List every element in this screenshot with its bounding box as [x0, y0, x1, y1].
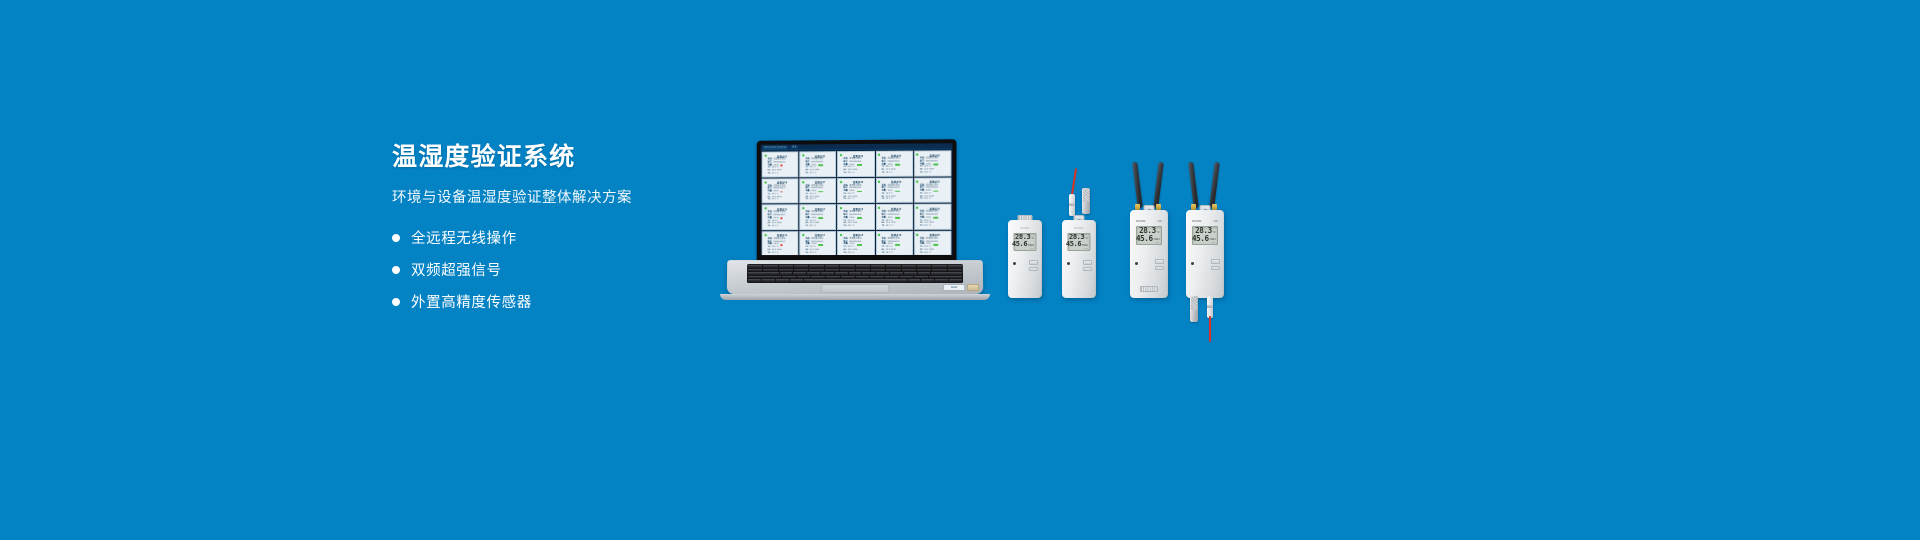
panel-row-key: T2:: [768, 225, 771, 228]
monitor-panel[interactable]: 监测点06名称:温湿度记录仪编号:SN00000001电量:100%T1:28.…: [762, 178, 799, 204]
device-key-up[interactable]: [1029, 260, 1038, 265]
probe-metal-body: [1082, 188, 1090, 214]
keyboard-key[interactable]: [904, 272, 917, 275]
probe-mesh-icon: [1083, 189, 1089, 202]
panel-data-row: T2:28.1 ℃: [882, 172, 911, 175]
device-keypad[interactable]: [1029, 260, 1038, 271]
panel-row-value: 28.1 ℃: [848, 252, 855, 255]
device-port-labels: ENON H3: [1186, 219, 1224, 223]
keyboard-key[interactable]: [932, 265, 946, 268]
panel-row-key: T2:: [882, 198, 885, 201]
panel-row-value: 28.1 ℃: [848, 225, 855, 228]
keyboard-key[interactable]: [902, 265, 916, 268]
device-body: ENON H3 28.3 ℃ 45.6 %RH ▭▭: [1186, 210, 1224, 298]
status-led-icon: [916, 234, 918, 236]
panel-row-value: 28.1 ℃: [810, 199, 817, 202]
panel-title: 监测点16: [768, 233, 797, 237]
keyboard-key[interactable]: [856, 269, 870, 272]
keyboard-key[interactable]: [917, 272, 930, 275]
panel-row-key: T2:: [882, 225, 885, 228]
panel-row-value: 28.1 ℃: [772, 172, 779, 175]
status-badge: [895, 164, 900, 166]
monitor-panel[interactable]: 监测点07名称:温湿度记录仪编号:SN00000001电量:100%T1:28.…: [799, 178, 836, 204]
keyboard-key[interactable]: [908, 279, 921, 282]
device-logger-3: ENON H3 28.3 ℃ 45.6 %RH ▭▭: [1130, 210, 1168, 298]
keyboard-key[interactable]: [948, 269, 962, 272]
device-brand-label: ENON: [1136, 219, 1145, 223]
device-key-down[interactable]: [1155, 266, 1164, 271]
device-port-labels: ENON H3: [1130, 219, 1168, 223]
device-brand-label: ENON: [1008, 227, 1042, 230]
panel-row-key: T2:: [768, 252, 771, 255]
monitor-panel[interactable]: 监测点01名称:温湿度记录仪编号:SN00000001电量:100%T1:28.…: [762, 151, 799, 177]
probe-metal-body: [1190, 296, 1198, 322]
panel-data-row: T2:28.1 ℃: [843, 225, 872, 228]
device-brand-label: ENON: [1062, 227, 1096, 230]
keyboard-key[interactable]: [794, 265, 808, 268]
keyboard-key[interactable]: [779, 265, 793, 268]
page-subtitle: 环境与设备温湿度验证整体解决方案: [392, 186, 722, 207]
keyboard-key[interactable]: [856, 265, 870, 268]
panel-data-row: T2:28.1 ℃: [920, 198, 949, 201]
monitor-panel[interactable]: 监测点17名称:温湿度记录仪编号:SN00000001电量:100%T1:28.…: [799, 231, 836, 255]
keyboard-key[interactable]: [794, 269, 808, 272]
vent-grille-icon: [1140, 286, 1158, 292]
panel-title: 监测点04: [882, 153, 911, 157]
panel-title: 监测点10: [920, 180, 949, 184]
panel-data-row: T2:28.1 ℃: [882, 252, 911, 255]
status-led-icon: [802, 234, 804, 236]
panel-data-row: T2:28.1 ℃: [805, 252, 834, 255]
list-item: 外置高精度传感器: [392, 291, 722, 312]
status-badge: [895, 244, 900, 246]
lcd-footer-icons: ▭▭: [1070, 248, 1088, 250]
monitor-panel[interactable]: 监测点03名称:温湿度记录仪编号:SN00000001电量:100%T1:28.…: [837, 151, 874, 177]
panel-title: 监测点18: [843, 233, 872, 237]
status-led-icon: [916, 180, 918, 182]
device-key-down[interactable]: [1029, 267, 1038, 272]
keyboard-key[interactable]: [762, 279, 775, 282]
monitor-panel[interactable]: 监测点14名称:温湿度记录仪编号:SN00000001电量:100%T1:28.…: [876, 204, 913, 230]
device-key-up[interactable]: [1083, 260, 1092, 265]
panel-title: 监测点17: [805, 233, 834, 237]
panel-data-row: T2:28.1 ℃: [882, 198, 911, 201]
panel-row-key: T2:: [768, 199, 771, 202]
keyboard-key[interactable]: [790, 279, 803, 282]
status-badge: [933, 217, 938, 219]
keyboard-key[interactable]: [885, 276, 899, 279]
device-logger-1: ENON 28.3 ℃ 45.6 %RH ▭▭: [1008, 220, 1042, 298]
hero-banner: 温湿度验证系统 环境与设备温湿度验证整体解决方案 全远程无线操作 双频超强信号 …: [0, 0, 1920, 540]
monitor-panel[interactable]: 监测点04名称:温湿度记录仪编号:SN00000001电量:100%T1:28.…: [876, 151, 913, 177]
keyboard-row: [748, 276, 962, 279]
monitor-panel[interactable]: 监测点20名称:温湿度记录仪编号:SN00000001电量:100%T1:28.…: [914, 231, 951, 255]
keyboard-row: [748, 279, 962, 282]
panel-title: 监测点07: [805, 180, 834, 184]
status-led-icon: [916, 154, 918, 156]
panel-row-value: 28.1 ℃: [924, 252, 931, 255]
keyboard-key[interactable]: [748, 269, 762, 272]
status-led-icon: [802, 207, 804, 209]
panel-data-row: T2:28.1 ℃: [843, 198, 872, 201]
panel-row-key: T2:: [920, 198, 923, 201]
panel-row-key: T2:: [920, 252, 923, 255]
keyboard-key[interactable]: [886, 269, 900, 272]
keyboard-key[interactable]: [793, 272, 806, 275]
lcd-footer-icons: ▭▭: [1016, 248, 1034, 250]
panel-row-value: 28.1 ℃: [924, 198, 931, 201]
monitor-panel[interactable]: 监测点02名称:温湿度记录仪编号:SN00000001电量:100%T1:28.…: [799, 151, 836, 177]
status-led-icon: [802, 181, 804, 183]
panel-row-value: 28.1 ℃: [848, 172, 855, 175]
monitor-panel[interactable]: 监测点09名称:温湿度记录仪编号:SN00000001电量:100%T1:28.…: [876, 177, 913, 203]
feature-label: 双频超强信号: [411, 259, 502, 280]
monitor-panel[interactable]: 监测点18名称:温湿度记录仪编号:SN00000001电量:100%T1:28.…: [837, 231, 874, 255]
ir-sensor-icon: [1135, 262, 1138, 265]
panel-row-key: T2:: [843, 172, 846, 175]
status-led-icon: [878, 234, 880, 236]
device-lcd-display: 28.3 ℃ 45.6 %RH ▭▭: [1136, 226, 1162, 245]
panel-row-value: 28.1 ℃: [772, 225, 779, 228]
ir-sensor-icon: [1013, 262, 1016, 265]
keyboard-key[interactable]: [929, 276, 962, 279]
status-badge: [933, 164, 938, 166]
probe-band: [1207, 305, 1213, 308]
panel-data-row: T2:28.1 ℃: [805, 199, 834, 202]
keyboard-key[interactable]: [871, 269, 885, 272]
probe-wire: [1209, 316, 1211, 342]
keyboard-key[interactable]: [886, 265, 900, 268]
status-led-icon: [878, 180, 880, 182]
status-badge: [933, 244, 938, 246]
panel-row-value: 28.1 ℃: [772, 199, 779, 202]
panel-data-row: T2:28.1 ℃: [843, 252, 872, 255]
panel-row-value: 28.1 ℃: [810, 252, 817, 255]
keyboard-key[interactable]: [821, 272, 834, 275]
status-led-icon: [840, 181, 842, 183]
device-model-label: H3: [1158, 219, 1162, 223]
keyboard-key[interactable]: [849, 272, 862, 275]
keyboard-key[interactable]: [917, 265, 931, 268]
list-item: 双频超强信号: [392, 259, 722, 280]
panel-title: 监测点01: [768, 154, 797, 158]
keyboard-key[interactable]: [862, 272, 875, 275]
keyboard-key[interactable]: [921, 279, 934, 282]
panel-title: 监测点05: [920, 153, 949, 157]
feature-label: 全远程无线操作: [411, 227, 517, 248]
device-logger-4: ENON H3 28.3 ℃ 45.6 %RH ▭▭: [1186, 210, 1224, 298]
panel-row-value: 28.1 ℃: [772, 252, 779, 255]
keyboard-key[interactable]: [914, 276, 928, 279]
device-key-up[interactable]: [1211, 259, 1220, 264]
laptop-product-image: 2021-01-01 12:00:00 首页 监测点01名称:温湿度记录仪编号:…: [720, 140, 990, 300]
panel-title: 监测点20: [920, 233, 949, 237]
panel-row-value: 28.1 ℃: [886, 198, 893, 201]
keyboard-key[interactable]: [931, 272, 962, 275]
status-led-icon: [764, 208, 766, 210]
panel-row-key: T2:: [768, 172, 771, 175]
panel-data-row: T2:28.1 ℃: [768, 199, 797, 202]
keyboard-key[interactable]: [748, 265, 762, 268]
bullet-dot-icon: [392, 234, 400, 242]
panel-data-row: T2:28.1 ℃: [882, 225, 911, 228]
device-keypad[interactable]: [1211, 259, 1220, 270]
panel-data-row: T2:28.1 ℃: [768, 225, 797, 228]
keyboard-row: [748, 272, 962, 275]
probe-white-body: [1207, 296, 1213, 318]
status-badge: [819, 217, 824, 219]
keyboard-key[interactable]: [856, 276, 870, 279]
panel-title: 监测点06: [768, 180, 797, 184]
page-title: 温湿度验证系统: [392, 142, 722, 172]
status-badge: [857, 244, 862, 246]
panel-row-key: T2:: [805, 199, 808, 202]
monitor-panel[interactable]: 监测点10名称:温湿度记录仪编号:SN00000001电量:100%T1:28.…: [914, 177, 951, 203]
humidity-value: 45.6: [1012, 241, 1027, 248]
keyboard-key[interactable]: [902, 269, 916, 272]
humidity-value: 45.6: [1192, 235, 1209, 243]
device-model-label: H3: [1214, 219, 1218, 223]
keyboard-key[interactable]: [871, 265, 885, 268]
keyboard-key[interactable]: [826, 276, 840, 279]
device-key-down[interactable]: [1211, 266, 1220, 271]
panel-row-key: T2:: [920, 171, 923, 174]
device-brand-label: ENON: [1192, 219, 1201, 223]
keyboard-row: [748, 265, 962, 268]
panel-row-value: 28.1 ℃: [810, 172, 817, 175]
bullet-dot-icon: [392, 266, 400, 274]
device-lineup: ENON 28.3 ℃ 45.6 %RH ▭▭: [1000, 185, 1240, 385]
keyboard-key[interactable]: [782, 276, 796, 279]
keyboard-key[interactable]: [949, 279, 962, 282]
list-item: 全远程无线操作: [392, 227, 722, 248]
status-badge: [857, 164, 862, 166]
keyboard-key[interactable]: [870, 276, 884, 279]
panel-title: 监测点19: [882, 233, 911, 237]
laptop-trackpad[interactable]: [821, 284, 889, 293]
panel-data-row: T2:28.1 ℃: [920, 252, 949, 255]
antenna-left-icon: [1132, 162, 1142, 208]
keyboard-key[interactable]: [825, 265, 839, 268]
alarm-badge: [781, 165, 783, 167]
keyboard-key[interactable]: [748, 276, 781, 279]
humidity-value: 45.6: [1136, 235, 1153, 243]
monitor-panel[interactable]: 监测点19名称:温湿度记录仪编号:SN00000001电量:100%T1:28.…: [876, 231, 913, 255]
status-badge: [895, 217, 900, 219]
status-led-icon: [916, 207, 918, 209]
lcd-footer-icons: ▭▭: [1195, 242, 1216, 244]
keyboard-key[interactable]: [811, 276, 825, 279]
keyboard-key[interactable]: [948, 265, 962, 268]
panel-row-value: 28.1 ℃: [848, 198, 855, 201]
alarm-badge: [781, 217, 783, 219]
laptop-front-lip: [720, 294, 990, 300]
status-led-icon: [764, 155, 766, 157]
monitor-panel[interactable]: 监测点16名称:温湿度记录仪编号:SN00000001电量:100%T1:28.…: [762, 231, 799, 255]
panel-row-value: 28.1 ℃: [886, 252, 893, 255]
keyboard-key[interactable]: [917, 269, 931, 272]
monitor-panel[interactable]: 监测点05名称:温湿度记录仪编号:SN00000001电量:100%T1:28.…: [914, 150, 951, 176]
device-body: ENON 28.3 ℃ 45.6 %RH ▭▭: [1008, 220, 1042, 298]
panel-row-value: 28.1 ℃: [810, 225, 817, 228]
monitor-panel[interactable]: 监测点12名称:温湿度记录仪编号:SN00000001电量:100%T1:28.…: [799, 204, 836, 230]
laptop-lid: 2021-01-01 12:00:00 首页 监测点01名称:温湿度记录仪编号:…: [757, 139, 957, 266]
panel-row-key: T2:: [843, 198, 846, 201]
ir-sensor-icon: [1191, 262, 1194, 265]
panel-data-row: T2:28.1 ℃: [805, 172, 834, 175]
device-key-up[interactable]: [1155, 259, 1164, 264]
panel-data-row: T2:28.1 ℃: [768, 172, 797, 175]
device-lcd-display: 28.3 ℃ 45.6 %RH ▭▭: [1068, 233, 1091, 251]
status-led-icon: [878, 154, 880, 156]
keyboard-key[interactable]: [803, 279, 906, 282]
panel-row-key: T2:: [805, 172, 808, 175]
probe-mesh-icon: [1191, 297, 1197, 310]
panel-title: 监测点03: [843, 153, 872, 157]
monitor-panel[interactable]: 监测点15名称:温湿度记录仪编号:SN00000001电量:100%T1:28.…: [914, 204, 951, 230]
keyboard-key[interactable]: [763, 269, 777, 272]
keyboard-key[interactable]: [809, 265, 823, 268]
keyboard-key[interactable]: [835, 272, 848, 275]
keyboard-key[interactable]: [779, 269, 793, 272]
keyboard-key[interactable]: [900, 276, 914, 279]
keyboard-key[interactable]: [935, 279, 948, 282]
panel-title: 监测点08: [843, 180, 872, 184]
panel-row-key: T2:: [920, 225, 923, 228]
probe-white-body: [1069, 194, 1075, 216]
laptop-screen: 2021-01-01 12:00:00 首页 监测点01名称:温湿度记录仪编号:…: [761, 143, 953, 255]
keyboard-key[interactable]: [825, 269, 839, 272]
lcd-footer-icons: ▭▭: [1139, 242, 1160, 244]
device-lcd-display: 28.3 ℃ 45.6 %RH ▭▭: [1014, 233, 1037, 251]
status-badge: [819, 164, 824, 166]
hero-copy: 温湿度验证系统 环境与设备温湿度验证整体解决方案 全远程无线操作 双频超强信号 …: [392, 142, 722, 323]
status-led-icon: [840, 154, 842, 156]
bullet-dot-icon: [392, 298, 400, 306]
keyboard-key[interactable]: [776, 279, 789, 282]
panel-row-key: T2:: [805, 225, 808, 228]
feature-list: 全远程无线操作 双频超强信号 外置高精度传感器: [392, 227, 722, 312]
laptop-cpu-sticker: Intel: [943, 284, 965, 291]
panel-title: 监测点09: [882, 180, 911, 184]
status-led-icon: [764, 234, 766, 236]
laptop-base: Intel: [720, 258, 990, 300]
laptop-open-notch: [827, 296, 883, 298]
keyboard-key[interactable]: [763, 265, 777, 268]
feature-label: 外置高精度传感器: [411, 291, 532, 312]
monitor-panel-grid: 监测点01名称:温湿度记录仪编号:SN00000001电量:100%T1:28.…: [761, 149, 953, 255]
keyboard-key[interactable]: [809, 269, 823, 272]
ir-sensor-icon: [1067, 262, 1070, 265]
status-led-icon: [840, 207, 842, 209]
humidity-value: 45.6: [1066, 241, 1081, 248]
keyboard-key[interactable]: [807, 272, 820, 275]
statusbar-tab[interactable]: 首页: [791, 145, 798, 149]
keyboard-key[interactable]: [932, 269, 946, 272]
panel-title: 监测点02: [805, 154, 834, 158]
device-keypad[interactable]: [1155, 259, 1164, 270]
panel-data-row: T2:28.1 ℃: [920, 225, 949, 228]
device-key-down[interactable]: [1083, 267, 1092, 272]
panel-data-row: T2:28.1 ℃: [920, 171, 949, 174]
device-keypad[interactable]: [1083, 260, 1092, 271]
panel-row-value: 28.1 ℃: [886, 172, 893, 175]
keyboard-row: [748, 269, 962, 272]
antenna-left-icon: [1188, 162, 1198, 208]
panel-row-key: T2:: [805, 252, 808, 255]
keyboard-key[interactable]: [748, 279, 761, 282]
status-badge: [819, 244, 824, 246]
status-led-icon: [878, 207, 880, 209]
device-body: ENON 28.3 ℃ 45.6 %RH ▭▭: [1062, 220, 1096, 298]
probe-band: [1069, 203, 1075, 206]
monitor-panel[interactable]: 监测点13名称:温湿度记录仪编号:SN00000001电量:100%T1:28.…: [837, 204, 874, 230]
antenna-right-icon: [1209, 162, 1219, 208]
laptop-deck: Intel: [727, 260, 983, 294]
keyboard-key[interactable]: [780, 272, 793, 275]
statusbar-datetime: 2021-01-01 12:00:00: [763, 145, 788, 149]
panel-row-key: T2:: [882, 252, 885, 255]
panel-data-row: T2:28.1 ℃: [843, 172, 872, 175]
monitor-panel[interactable]: 监测点11名称:温湿度记录仪编号:SN00000001电量:100%T1:28.…: [762, 204, 799, 230]
keyboard-key[interactable]: [840, 269, 854, 272]
keyboard-key[interactable]: [797, 276, 811, 279]
status-led-icon: [840, 234, 842, 236]
keyboard-key[interactable]: [841, 276, 855, 279]
laptop-secondary-sticker: [967, 284, 979, 291]
keyboard-key[interactable]: [748, 272, 779, 275]
antenna-right-icon: [1153, 162, 1163, 208]
panel-data-row: T2:28.1 ℃: [805, 225, 834, 228]
monitor-panel[interactable]: 监测点08名称:温湿度记录仪编号:SN00000001电量:100%T1:28.…: [837, 177, 874, 203]
device-logger-2: ENON 28.3 ℃ 45.6 %RH ▭▭: [1062, 220, 1096, 298]
status-led-icon: [764, 181, 766, 183]
alarm-badge: [781, 244, 783, 246]
status-badge: [857, 217, 862, 219]
laptop-keyboard[interactable]: [747, 264, 963, 283]
panel-row-key: T2:: [882, 172, 885, 175]
device-body: ENON H3 28.3 ℃ 45.6 %RH ▭▭: [1130, 210, 1168, 298]
device-lcd-display: 28.3 ℃ 45.6 %RH ▭▭: [1192, 226, 1218, 245]
panel-row-value: 28.1 ℃: [924, 225, 931, 228]
keyboard-key[interactable]: [840, 265, 854, 268]
panel-row-value: 28.1 ℃: [924, 171, 931, 174]
keyboard-key[interactable]: [876, 272, 889, 275]
status-led-icon: [802, 154, 804, 156]
panel-row-value: 28.1 ℃: [886, 225, 893, 228]
keyboard-key[interactable]: [890, 272, 903, 275]
panel-data-row: T2:28.1 ℃: [768, 252, 797, 255]
panel-row-key: T2:: [843, 252, 846, 255]
panel-row-key: T2:: [843, 225, 846, 228]
